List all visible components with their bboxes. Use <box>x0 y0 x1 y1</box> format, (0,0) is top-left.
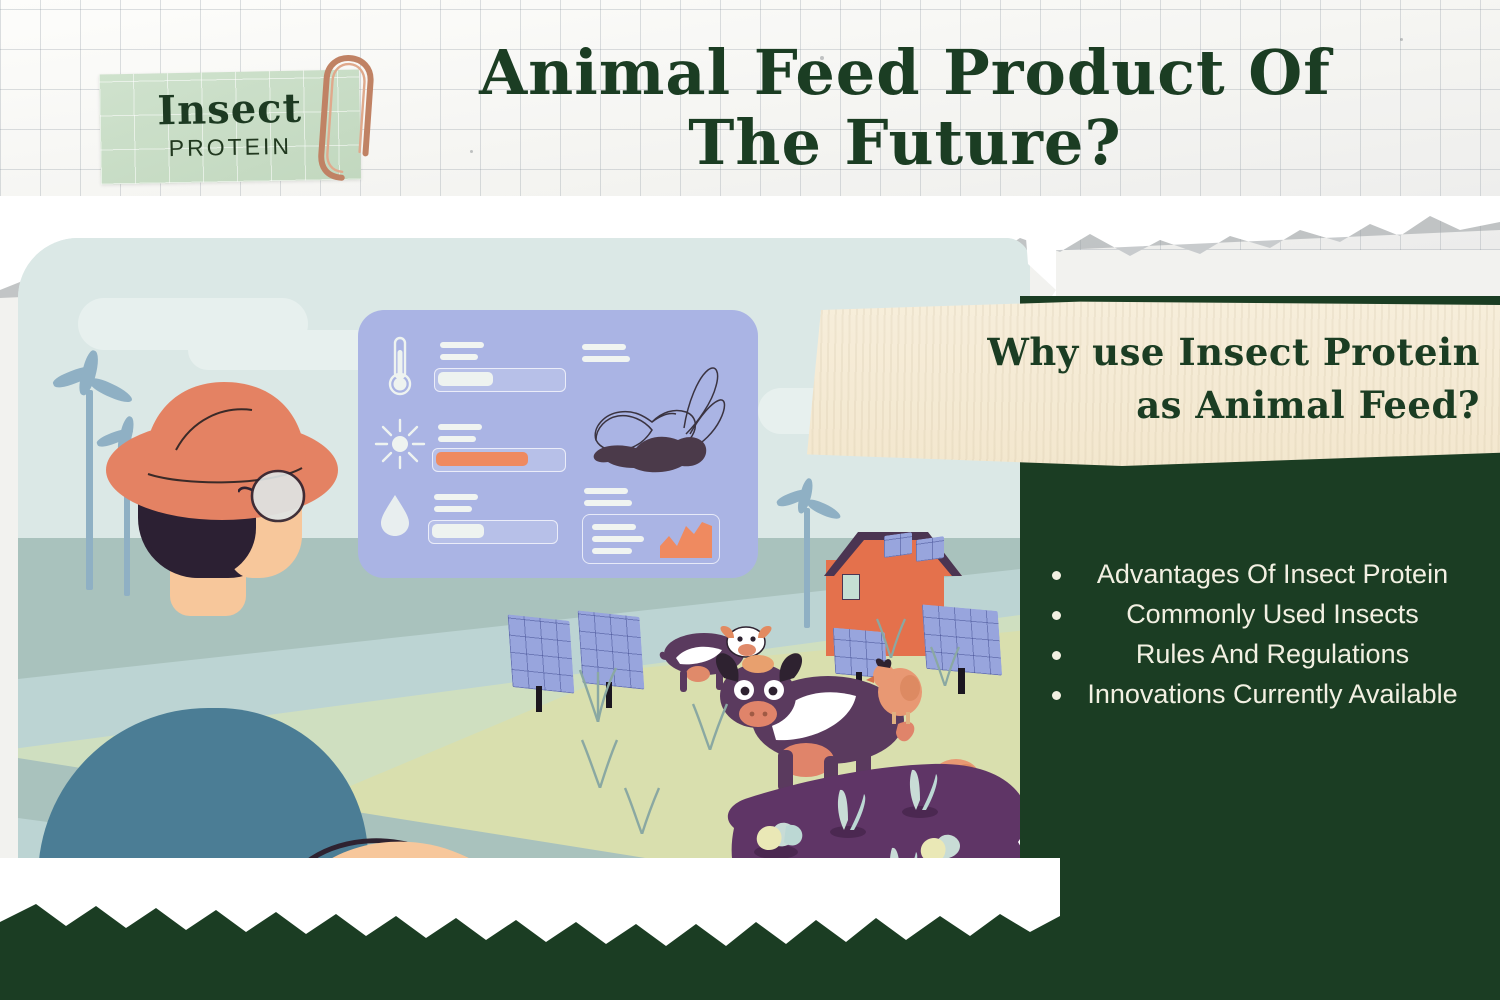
dash-label-line <box>592 524 636 530</box>
grass-tuft <box>576 656 620 722</box>
bullet-dot-icon <box>1052 691 1061 700</box>
dash-label-line <box>592 536 644 542</box>
list-item: Advantages Of Insect Protein <box>1040 556 1490 593</box>
list-item-label: Commonly Used Insects <box>1061 596 1490 633</box>
temperature-progress-fill <box>438 372 493 386</box>
dash-label-line <box>438 436 476 442</box>
grass-tuft <box>874 610 908 658</box>
torn-paper-edge-bottom <box>0 858 1060 968</box>
humidity-progress-fill <box>432 524 484 538</box>
dash-label-line <box>584 500 632 506</box>
banner-line-1: Why use Insect Protein <box>800 326 1480 379</box>
grass-tuft <box>690 692 730 750</box>
grass-tuft <box>622 776 662 834</box>
sun-icon <box>372 416 428 472</box>
sensor-dashboard-card <box>358 310 758 578</box>
list-item: Innovations Currently Available <box>1040 676 1490 713</box>
dash-label-line <box>582 344 626 350</box>
grass-tuft <box>928 638 962 686</box>
dash-label-line <box>592 548 632 554</box>
list-item: Rules And Regulations <box>1040 636 1490 673</box>
list-item: Commonly Used Insects <box>1040 596 1490 633</box>
light-progress-fill <box>436 452 528 466</box>
bullet-dot-icon <box>1052 651 1061 660</box>
water-droplet-icon <box>378 492 412 538</box>
title-line-2: The Future? <box>400 108 1410 178</box>
list-item-label: Advantages Of Insect Protein <box>1061 556 1490 593</box>
dash-label-line <box>440 342 484 348</box>
insect-larva <box>826 786 872 838</box>
insect-larva <box>752 812 812 860</box>
grass-tuft <box>578 726 622 788</box>
paperclip-icon <box>312 50 383 184</box>
dash-label-line <box>434 494 478 500</box>
dash-label-line <box>434 506 472 512</box>
topics-bullet-list: Advantages Of Insect Protein Commonly Us… <box>1040 556 1490 716</box>
list-item-label: Rules And Regulations <box>1061 636 1490 673</box>
dash-label-line <box>438 424 482 430</box>
fly-insect-icon <box>586 356 726 482</box>
list-item-label: Innovations Currently Available <box>1061 676 1490 713</box>
dash-label-line <box>584 488 628 494</box>
title-line-1: Animal Feed Product Of <box>400 38 1410 108</box>
banner-heading: Why use Insect Protein as Animal Feed? <box>800 326 1500 432</box>
bullet-dot-icon <box>1052 611 1061 620</box>
chicken <box>866 656 928 724</box>
insect-larva <box>898 766 944 818</box>
glasses-icon <box>238 460 318 530</box>
bullet-dot-icon <box>1052 571 1061 580</box>
page-title: Animal Feed Product Of The Future? <box>400 38 1410 178</box>
dash-label-line <box>440 354 478 360</box>
banner-line-2: as Animal Feed? <box>800 379 1480 432</box>
infographic-poster: Insect PROTEIN Animal Feed Product Of Th… <box>0 0 1500 1000</box>
area-chart-icon <box>660 520 712 558</box>
thermometer-icon <box>384 334 416 398</box>
